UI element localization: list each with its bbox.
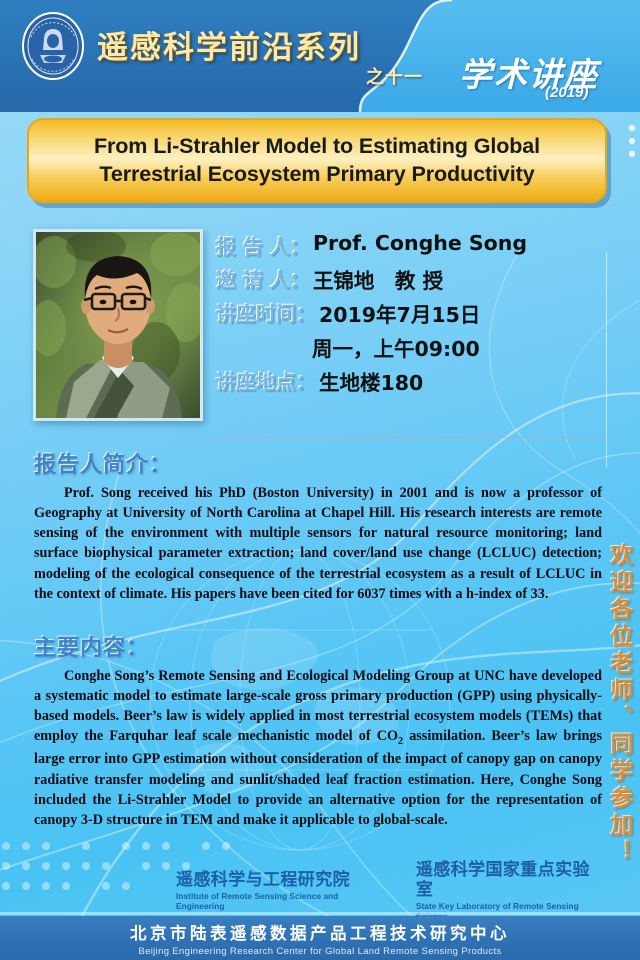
speaker-value: Prof. Conghe Song xyxy=(313,231,527,255)
university-emblem-icon xyxy=(18,11,88,81)
time-value-second: 周一，上午09:00 xyxy=(312,332,480,362)
info-vertical-divider xyxy=(606,252,607,467)
footer-separator xyxy=(0,912,640,915)
info-horizontal-divider xyxy=(216,437,608,438)
poster-title: From Li-Strahler Model to Estimating Glo… xyxy=(80,133,554,188)
host-label: 邀 请 人： xyxy=(216,264,310,293)
biography-heading: 报告人简介： xyxy=(34,447,602,479)
lecture-poster: 遥感科学前沿系列 之十一 学术讲座 (2019) From Li-Strahle… xyxy=(0,0,640,960)
place-label: 讲座地点： xyxy=(216,366,316,395)
title-plaque-box: From Li-Strahler Model to Estimating Glo… xyxy=(27,118,607,203)
speaker-portrait xyxy=(33,229,203,421)
info-row-time-second: 周一，上午09:00 xyxy=(216,332,608,362)
host-value: 王锦地 教 授 xyxy=(313,264,443,294)
time-value: 2019年7月15日 xyxy=(319,298,480,328)
footer-org-institute-cn: 遥感科学与工程研究院 xyxy=(176,871,382,891)
lecture-info: 报 告 人： Prof. Conghe Song 邀 请 人： 王锦地 教 授 … xyxy=(216,231,608,400)
content-text: Conghe Song’s Remote Sensing and Ecologi… xyxy=(34,666,602,830)
title-plaque: From Li-Strahler Model to Estimating Glo… xyxy=(27,118,607,203)
time-label: 讲座时间： xyxy=(216,298,316,327)
footer-band-cn: 北京市陆表遥感数据产品工程技术研究中心 xyxy=(130,920,510,944)
speaker-portrait-image xyxy=(36,232,200,418)
footer-org-lab-cn: 遥感科学国家重点实验室 xyxy=(416,861,606,900)
title-line-2: Terrestrial Ecosystem Primary Productivi… xyxy=(99,162,534,186)
biography-text: Prof. Song received his PhD (Boston Univ… xyxy=(34,483,602,604)
info-row-host: 邀 请 人： 王锦地 教 授 xyxy=(216,264,608,294)
poster-header: 遥感科学前沿系列 之十一 学术讲座 (2019) xyxy=(0,0,640,112)
footer-band: 北京市陆表遥感数据产品工程技术研究中心 Beijing Engineering … xyxy=(0,916,640,960)
header-series-number: 之十一 xyxy=(366,63,423,89)
info-row-time: 讲座时间： 2019年7月15日 xyxy=(216,298,608,328)
title-line-1: From Li-Strahler Model to Estimating Glo… xyxy=(94,134,540,158)
footer-organizations: 遥感科学与工程研究院 Institute of Remote Sensing S… xyxy=(0,866,640,916)
footer-org-institute: 遥感科学与工程研究院 Institute of Remote Sensing S… xyxy=(176,871,382,912)
title-dot-accent xyxy=(624,122,640,162)
place-value: 生地楼180 xyxy=(319,366,423,396)
footer-org-institute-en: Institute of Remote Sensing Science and … xyxy=(176,891,382,911)
header-year: (2019) xyxy=(545,84,588,101)
footer-band-en: Beijing Engineering Research Center for … xyxy=(138,946,501,957)
speaker-label: 报 告 人： xyxy=(216,231,310,260)
info-row-speaker: 报 告 人： Prof. Conghe Song xyxy=(216,231,608,260)
header-series-title: 遥感科学前沿系列 xyxy=(97,22,361,67)
content-section: 主要内容： Conghe Song’s Remote Sensing and E… xyxy=(34,630,602,830)
biography-section: 报告人简介： Prof. Song received his PhD (Bost… xyxy=(34,447,602,604)
content-heading: 主要内容： xyxy=(34,630,602,662)
info-row-place: 讲座地点： 生地楼180 xyxy=(216,366,608,396)
welcome-vertical-text: 欢迎各位老师、同学参加！ xyxy=(604,543,636,867)
